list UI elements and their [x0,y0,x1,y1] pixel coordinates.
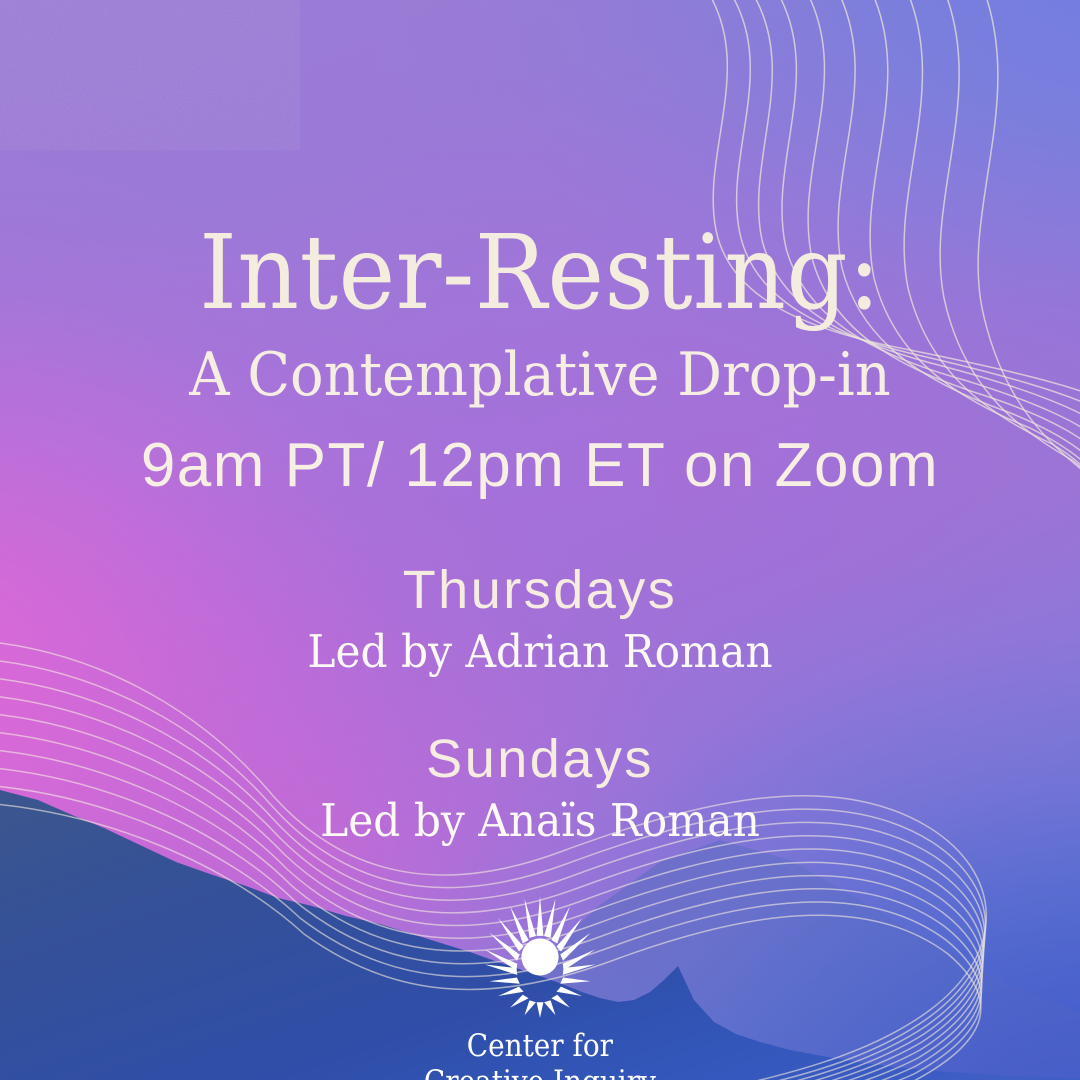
poster-canvas: Inter-Resting: A Contemplative Drop-in 9… [0,0,1080,1080]
session-day-label: Thursdays [0,563,1080,617]
organization-name: Center for Creative Inquiry [424,1029,656,1080]
session-day-label: Sundays [0,732,1080,786]
page-subtitle: A Contemplative Drop-in [38,345,1042,405]
organization-name-line2: Creative Inquiry [424,1065,656,1080]
page-title: Inter-Resting: [38,222,1042,325]
organization-logo: Center for Creative Inquiry [411,895,669,1080]
poster-content: Inter-Resting: A Contemplative Drop-in 9… [0,0,1080,1080]
session-leader-label: Led by Adrian Roman [32,629,1047,674]
session-thursdays: Thursdays Led by Adrian Roman [0,563,1080,674]
session-leader-label: Led by Anaïs Roman [32,798,1047,843]
organization-name-line1: Center for [424,1029,656,1065]
session-time-line: 9am PT/ 12pm ET on Zoom [0,435,1080,497]
sunburst-icon [478,895,602,1019]
session-sundays: Sundays Led by Anaïs Roman [0,732,1080,843]
title-block: Inter-Resting: A Contemplative Drop-in 9… [0,222,1080,497]
